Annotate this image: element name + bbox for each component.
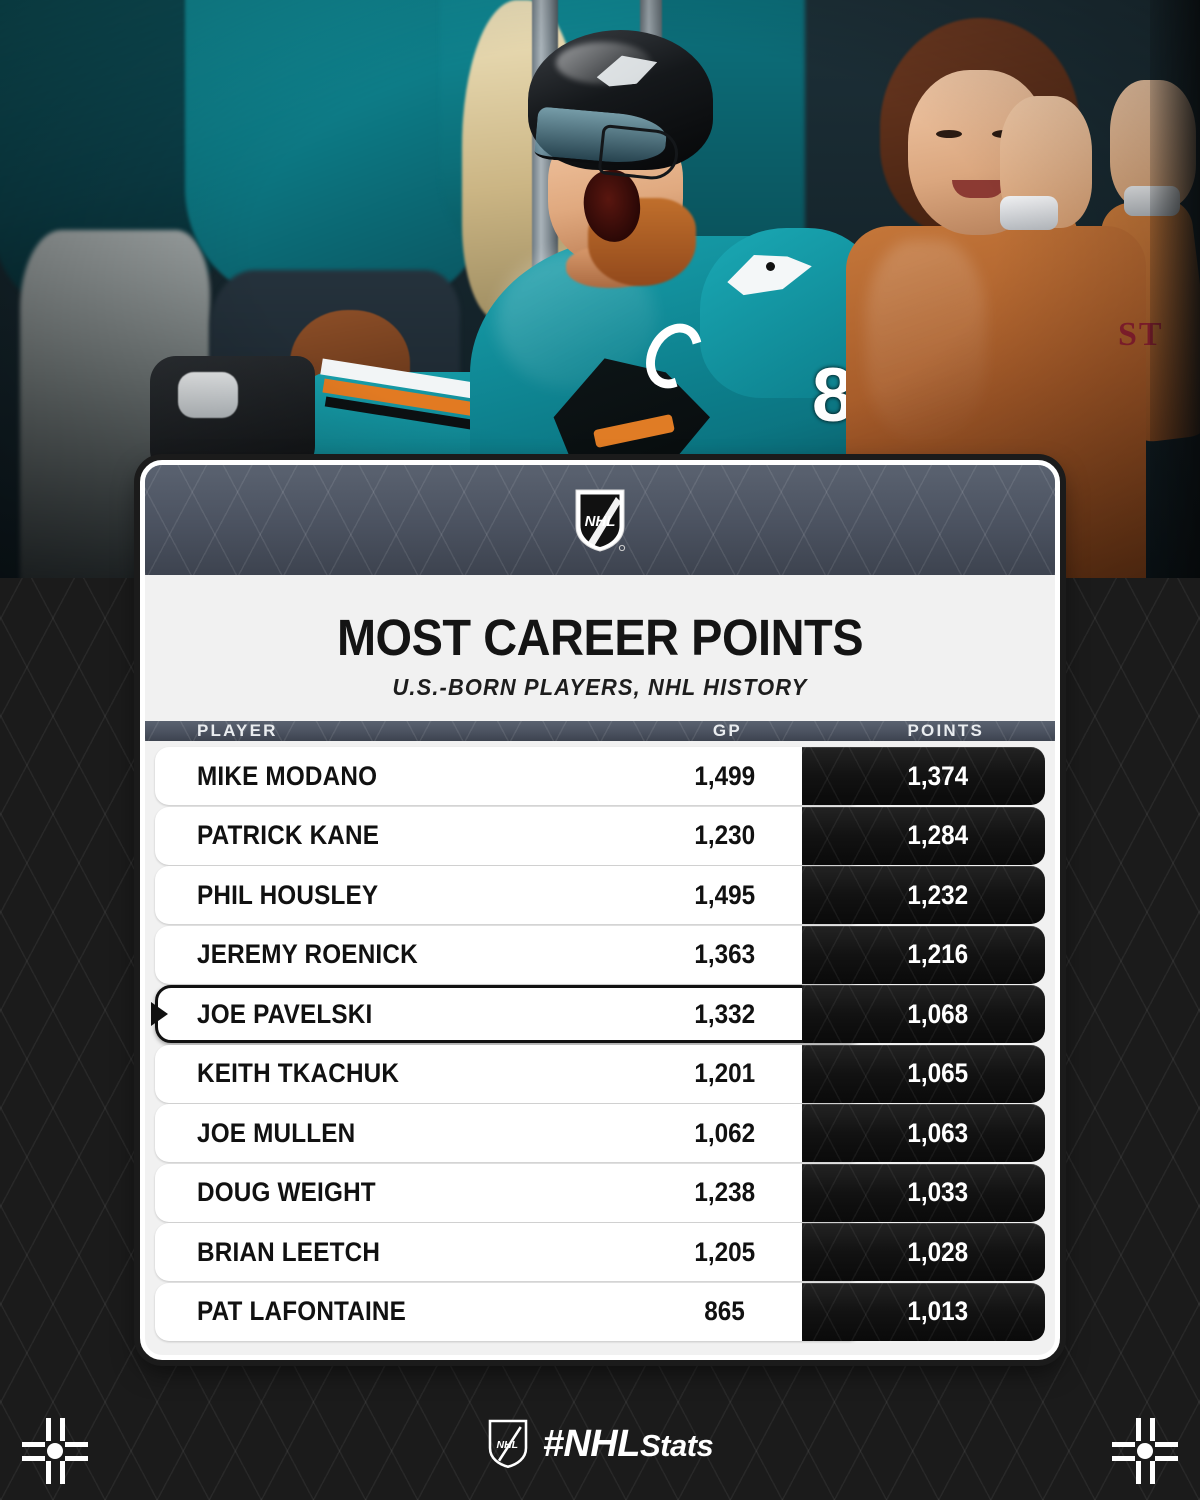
svg-text:NHL: NHL	[496, 1439, 518, 1451]
hashtag-nhlstats: #NHLStats	[543, 1423, 714, 1466]
cell-points: 1,068	[831, 985, 1045, 1043]
table-row: JOE MULLEN1,0621,063	[155, 1104, 1045, 1162]
cell-points: 1,063	[831, 1104, 1045, 1162]
cell-points: 1,033	[831, 1164, 1045, 1222]
table-row: PATRICK KANE1,2301,284	[155, 807, 1045, 865]
table-row: JEREMY ROENICK1,3631,216	[155, 926, 1045, 984]
cell-games-played: 1,205	[618, 1223, 832, 1281]
player-name-text: KEITH TKACHUK	[197, 1058, 399, 1089]
games-played-text: 1,201	[694, 1058, 755, 1089]
cell-points: 1,232	[831, 866, 1045, 924]
nhl-shield-logo: NHL	[572, 486, 628, 554]
footer: NHL #NHLStats	[0, 1388, 1200, 1500]
table-column-header: PLAYER GP POINTS	[145, 721, 1055, 741]
cell-player-name: MIKE MODANO	[155, 747, 618, 805]
points-text: 1,065	[908, 1058, 969, 1089]
cell-games-played: 865	[618, 1283, 832, 1341]
cell-games-played: 1,363	[618, 926, 832, 984]
cell-points: 1,065	[831, 1045, 1045, 1103]
games-played-text: 1,238	[694, 1177, 755, 1208]
player-name-text: JEREMY ROENICK	[197, 939, 418, 970]
cell-points: 1,284	[831, 807, 1045, 865]
table-row: JOE PAVELSKI1,3321,068	[155, 985, 1045, 1043]
faceoff-dot-mark	[1112, 1418, 1178, 1484]
player-name-text: PATRICK KANE	[197, 820, 379, 851]
games-played-text: 1,062	[694, 1118, 755, 1149]
cell-player-name: PAT LAFONTAINE	[155, 1283, 618, 1341]
cell-games-played: 1,201	[618, 1045, 832, 1103]
points-text: 1,063	[908, 1118, 969, 1149]
games-played-text: 865	[704, 1296, 745, 1327]
table-row: KEITH TKACHUK1,2011,065	[155, 1045, 1045, 1103]
cell-games-played: 1,238	[618, 1164, 832, 1222]
cell-player-name: JOE MULLEN	[155, 1104, 618, 1162]
points-text: 1,232	[908, 880, 969, 911]
cell-player-name: JEREMY ROENICK	[155, 926, 618, 984]
games-played-text: 1,495	[694, 880, 755, 911]
player-name-text: PAT LAFONTAINE	[197, 1296, 406, 1327]
cell-games-played: 1,230	[618, 807, 832, 865]
card-title-block: MOST CAREER POINTS U.S.-BORN PLAYERS, NH…	[145, 575, 1055, 721]
cell-points: 1,374	[831, 747, 1045, 805]
table-row: MIKE MODANO1,4991,374	[155, 747, 1045, 805]
points-text: 1,216	[908, 939, 969, 970]
points-text: 1,068	[908, 999, 969, 1030]
cell-games-played: 1,495	[618, 866, 832, 924]
column-header-gp: GP	[618, 721, 836, 741]
nhl-shield-logo: NHL	[487, 1418, 529, 1470]
player-name-text: JOE PAVELSKI	[197, 999, 372, 1030]
player-name-text: MIKE MODANO	[197, 761, 377, 792]
points-text: 1,033	[908, 1177, 969, 1208]
cell-games-played: 1,499	[618, 747, 832, 805]
games-played-text: 1,363	[694, 939, 755, 970]
points-text: 1,284	[908, 820, 969, 851]
cell-player-name: KEITH TKACHUK	[155, 1045, 618, 1103]
cell-player-name: DOUG WEIGHT	[155, 1164, 618, 1222]
cell-points: 1,216	[831, 926, 1045, 984]
cell-player-name: PATRICK KANE	[155, 807, 618, 865]
cell-points: 1,028	[831, 1223, 1045, 1281]
table-row: PAT LAFONTAINE8651,013	[155, 1283, 1045, 1341]
player-name-text: PHIL HOUSLEY	[197, 880, 378, 911]
svg-text:NHL: NHL	[585, 513, 616, 530]
table-row: PHIL HOUSLEY1,4951,232	[155, 866, 1045, 924]
cell-games-played: 1,062	[618, 1104, 832, 1162]
points-text: 1,013	[908, 1296, 969, 1327]
cell-player-name: PHIL HOUSLEY	[155, 866, 618, 924]
cell-player-name: BRIAN LEETCH	[155, 1223, 618, 1281]
hashtag-suffix: Stats	[640, 1428, 713, 1463]
player-name-text: BRIAN LEETCH	[197, 1237, 380, 1268]
games-played-text: 1,332	[694, 999, 755, 1030]
cell-points: 1,013	[831, 1283, 1045, 1341]
column-header-player: PLAYER	[145, 721, 618, 741]
infographic-page: 8 ST	[0, 0, 1200, 1500]
cell-player-name: JOE PAVELSKI	[155, 985, 618, 1043]
games-played-text: 1,205	[694, 1237, 755, 1268]
stats-card: NHL MOST CAREER POINTS U.S.-BORN PLAYERS…	[140, 460, 1060, 1360]
games-played-text: 1,499	[694, 761, 755, 792]
games-played-text: 1,230	[694, 820, 755, 851]
table-row: BRIAN LEETCH1,2051,028	[155, 1223, 1045, 1281]
card-header-band: NHL	[145, 465, 1055, 575]
page-title: MOST CAREER POINTS	[181, 611, 1018, 665]
points-text: 1,374	[908, 761, 969, 792]
player-name-text: JOE MULLEN	[197, 1118, 355, 1149]
points-text: 1,028	[908, 1237, 969, 1268]
column-header-points: POINTS	[837, 721, 1055, 741]
hashtag-prefix: #NHL	[543, 1423, 640, 1465]
player-name-text: DOUG WEIGHT	[197, 1177, 376, 1208]
cell-games-played: 1,332	[618, 985, 832, 1043]
table-body: MIKE MODANO1,4991,374PATRICK KANE1,2301,…	[145, 741, 1055, 1356]
page-subtitle: U.S.-BORN PLAYERS, NHL HISTORY	[168, 674, 1033, 701]
table-row: DOUG WEIGHT1,2381,033	[155, 1164, 1045, 1222]
